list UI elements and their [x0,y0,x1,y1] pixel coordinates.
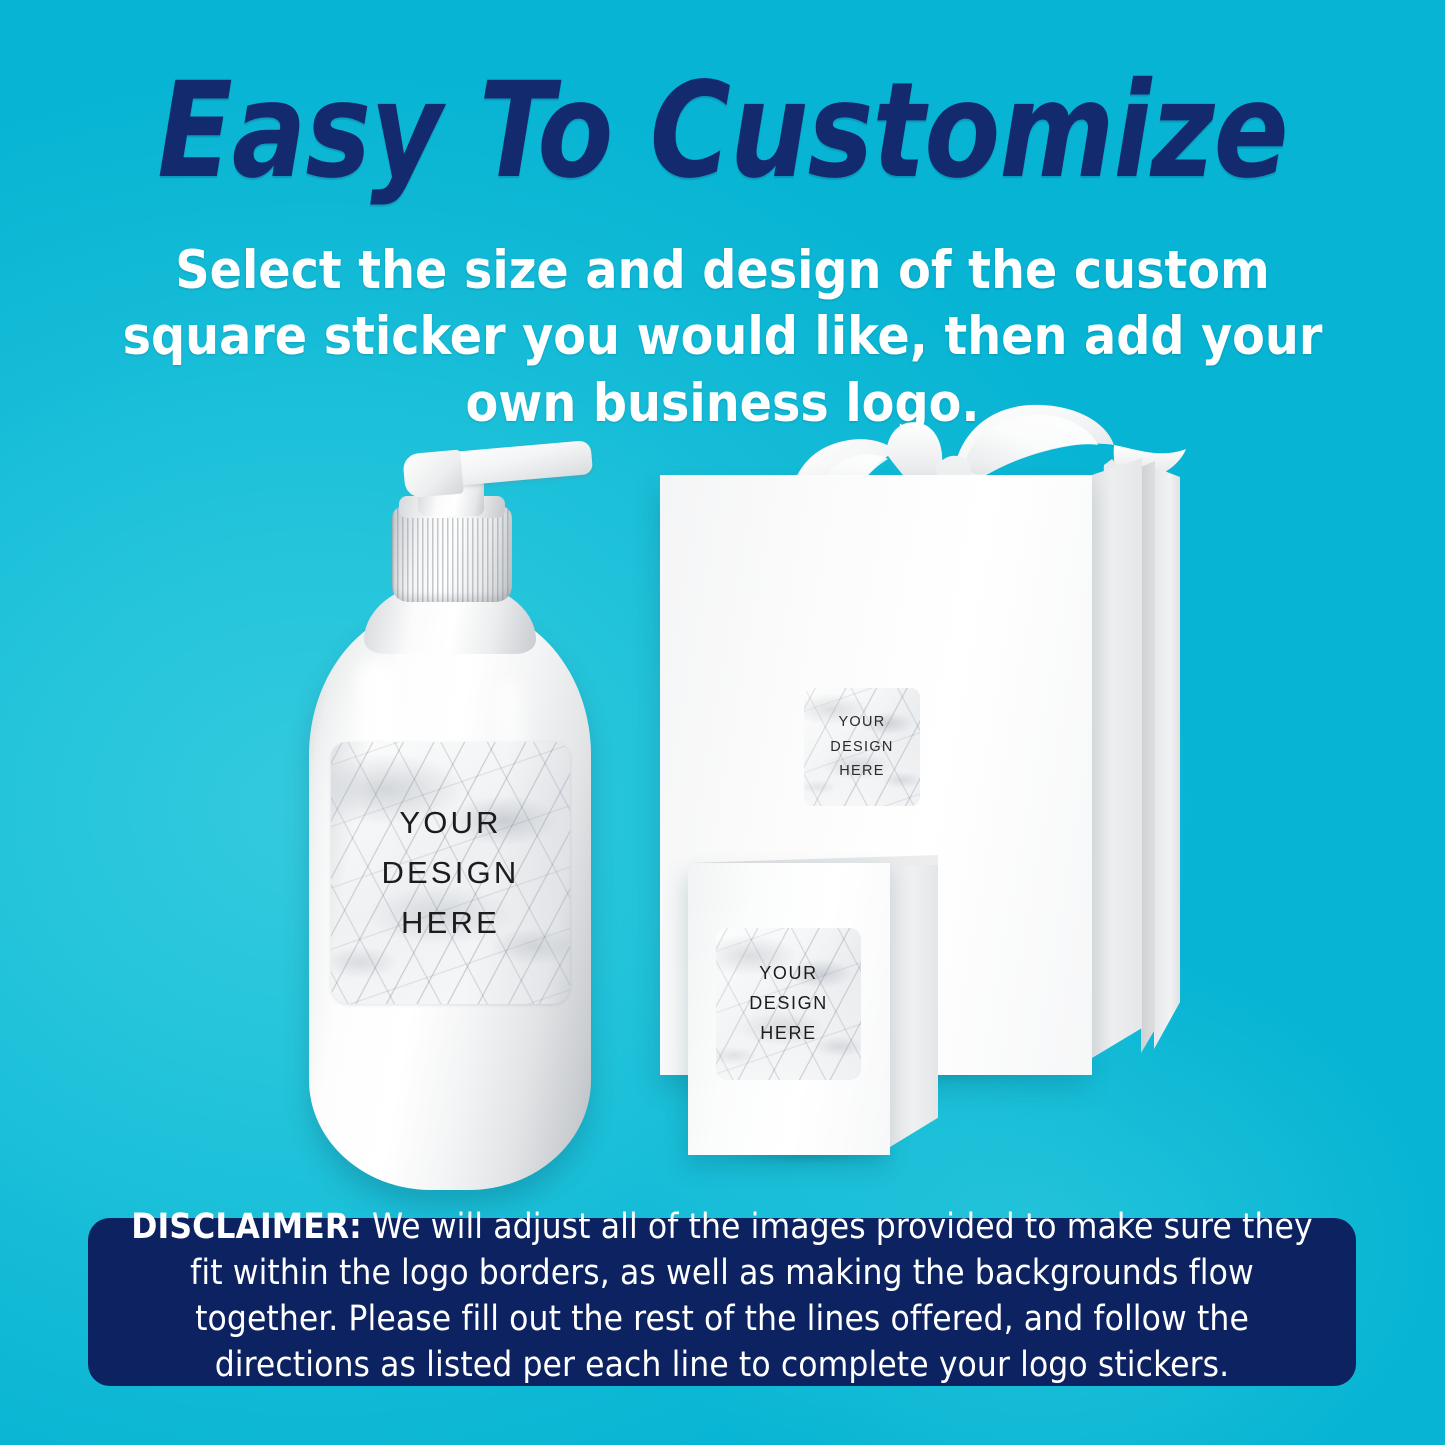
small-box-side-panel [890,855,938,1147]
bottle-label-line-3: HERE [401,898,500,948]
disclaimer-label: DISCLAIMER: [131,1207,362,1247]
pump-nozzle-lip [402,450,464,499]
small-box-sticker-line-1: YOUR [759,959,817,989]
pump-bottle-mockup: YOUR DESIGN HERE [300,430,600,1190]
bottle-label-text: YOUR DESIGN HERE [331,742,570,1004]
gift-box-sticker-line-3: HERE [839,759,885,783]
disclaimer-text: DISCLAIMER: We will adjust all of the im… [124,1204,1320,1389]
small-box-marble-sticker: YOUR DESIGN HERE [716,928,861,1080]
bottle-label-line-1: YOUR [399,798,501,848]
page-title: Easy To Customize [51,62,1395,201]
small-box-sticker-text: YOUR DESIGN HERE [716,928,861,1080]
gift-box-marble-sticker: YOUR DESIGN HERE [804,688,920,806]
promo-graphic: Easy To Customize Select the size and de… [0,0,1445,1445]
gift-box-edge-seam [1141,461,1155,1053]
gift-box-back-panel [1154,463,1180,1049]
disclaimer-banner: DISCLAIMER: We will adjust all of the im… [88,1218,1356,1386]
bottle-label-line-2: DESIGN [381,848,519,898]
small-box-sticker-line-3: HERE [760,1019,816,1049]
bottle-marble-label: YOUR DESIGN HERE [331,742,570,1004]
small-product-box-mockup: YOUR DESIGN HERE [688,855,953,1160]
gift-box-sticker-text: YOUR DESIGN HERE [804,688,920,806]
small-box-sticker-line-2: DESIGN [749,989,828,1019]
gift-box-sticker-line-1: YOUR [838,710,885,734]
gift-box-side-panel [1092,458,1142,1058]
gift-box-sticker-line-2: DESIGN [830,735,893,759]
pump-collar-ribbed [392,506,512,602]
